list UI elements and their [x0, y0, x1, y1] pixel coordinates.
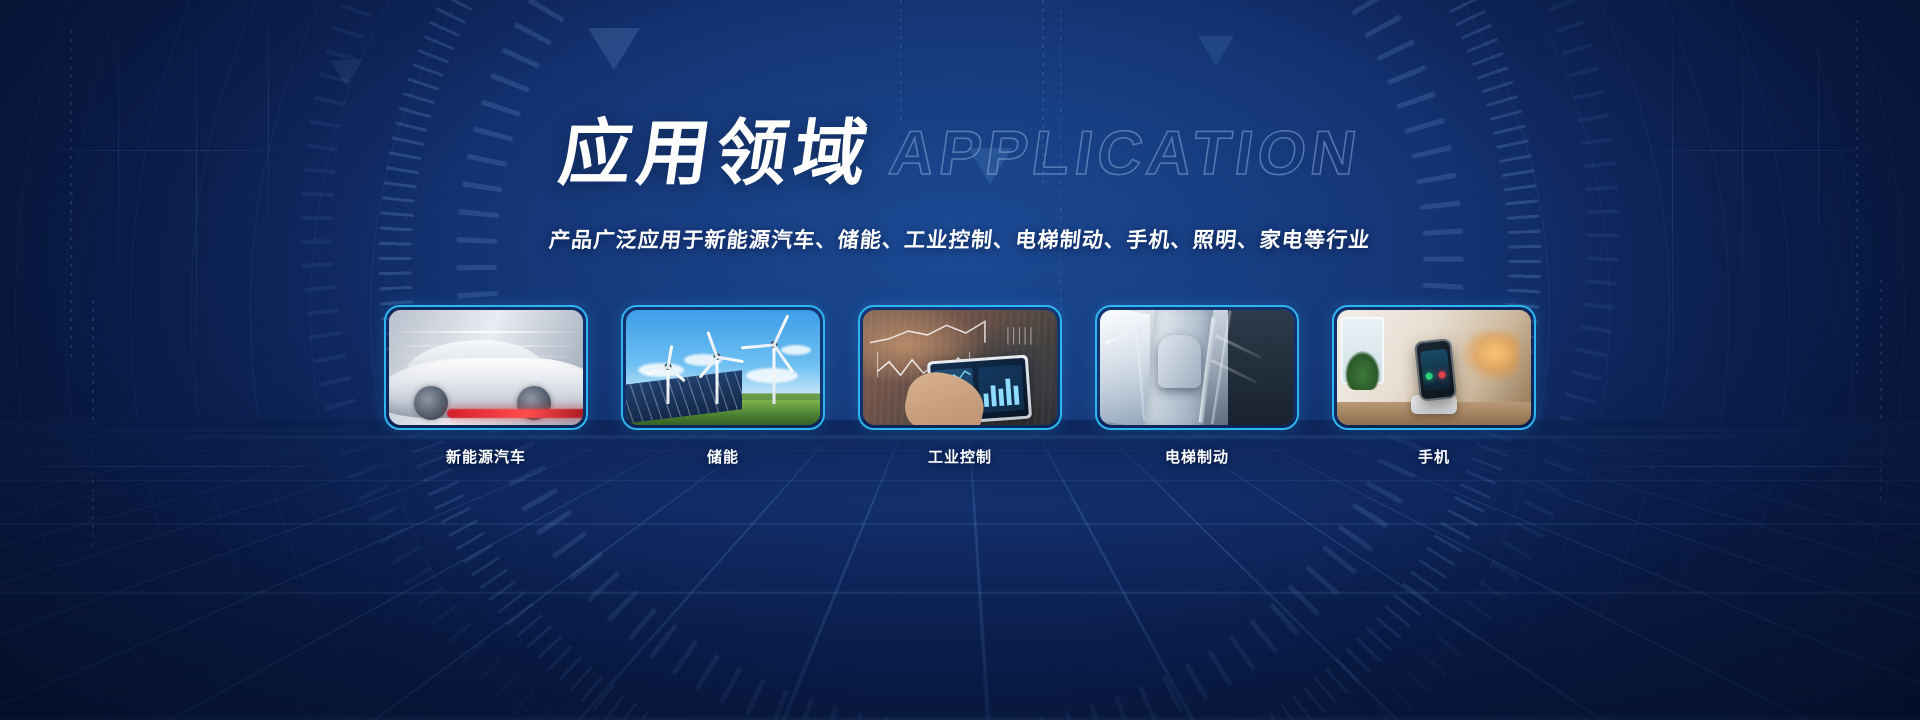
elevator-braking-photo [1100, 310, 1294, 425]
card-label: 手机 [1332, 446, 1536, 467]
page-title-cn: 应用领域 [555, 118, 877, 190]
card-frame[interactable] [384, 305, 588, 430]
card-frame[interactable] [1332, 305, 1536, 430]
card-frame[interactable] [621, 305, 825, 430]
application-banner: 应用领域 APPLICATION 产品广泛应用于新能源汽车、储能、工业控制、电梯… [0, 0, 1920, 720]
application-card-energy-storage[interactable]: 储能 [621, 305, 825, 467]
new-energy-vehicle-photo [389, 310, 583, 425]
card-label: 工业控制 [858, 446, 1062, 467]
mobile-phone-photo [1337, 310, 1531, 425]
application-card-list: 新能源汽车 [0, 305, 1920, 467]
application-card-mobile-phone[interactable]: 手机 [1332, 305, 1536, 467]
application-card-new-energy-vehicle[interactable]: 新能源汽车 [384, 305, 588, 467]
smartphone-device [1414, 338, 1457, 401]
application-card-elevator-braking[interactable]: 电梯制动 [1095, 305, 1299, 467]
banner-heading: 应用领域 APPLICATION [0, 118, 1920, 190]
card-frame[interactable] [858, 305, 1062, 430]
card-label: 新能源汽车 [384, 446, 588, 467]
energy-storage-photo [626, 310, 820, 425]
page-title-en: APPLICATION [885, 123, 1364, 185]
industrial-control-photo [863, 310, 1057, 425]
card-label: 储能 [621, 446, 825, 467]
application-card-industrial-control[interactable]: 工业控制 [858, 305, 1062, 467]
card-label: 电梯制动 [1095, 446, 1299, 467]
banner-subtitle: 产品广泛应用于新能源汽车、储能、工业控制、电梯制动、手机、照明、家电等行业 [0, 224, 1920, 254]
card-frame[interactable] [1095, 305, 1299, 430]
